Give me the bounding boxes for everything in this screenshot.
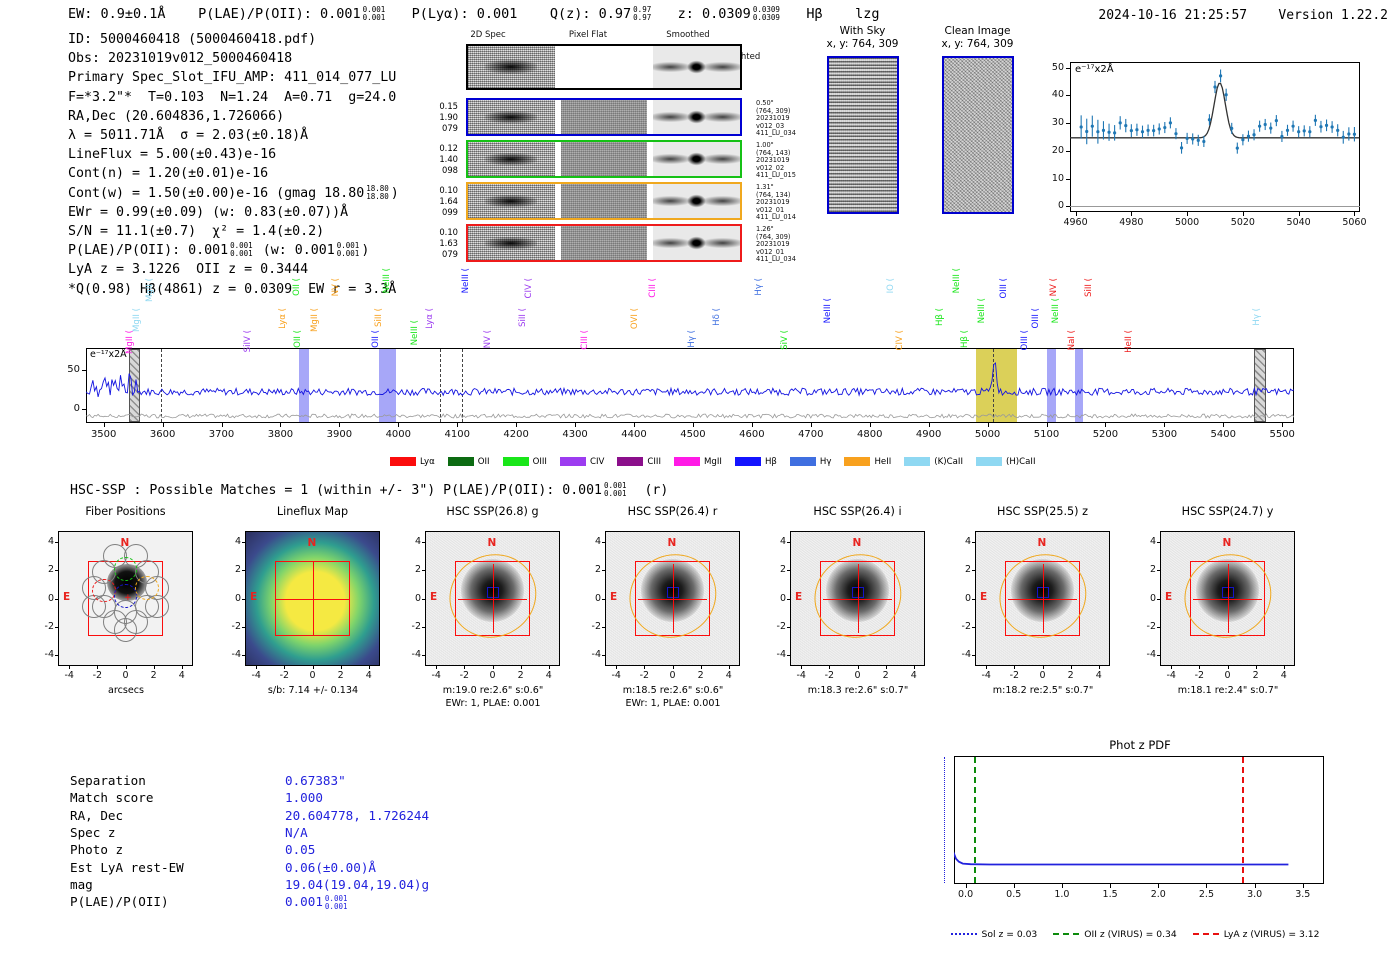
- spectrum-line-label-16: SiII (: [518, 308, 528, 327]
- axis-tick-y: 0: [1032, 200, 1064, 211]
- cutout-name-0: With Sky: [815, 25, 910, 38]
- emission-line-zoom-plot: 49604980500050205040506001020304050e⁻¹⁷x…: [1030, 58, 1375, 243]
- panel-xtick-3-1: -2: [630, 670, 658, 681]
- spec2d-col-header-0: 2D Spec: [448, 30, 528, 40]
- panel-axes-3: [605, 531, 740, 666]
- spectrum-line-label-37: NeIII (: [1051, 298, 1061, 323]
- spectrum-line-label-14: NeIII (: [461, 268, 471, 293]
- axis-tick-y: 30: [1032, 117, 1064, 128]
- axis-tick-x: 5020: [1225, 217, 1261, 228]
- axis-tick-x: 3.5: [1285, 889, 1321, 900]
- spectrum-trace: [86, 348, 1294, 423]
- panel-ytick-5-1: -2: [949, 621, 971, 632]
- match-value-4: 0.05: [285, 841, 315, 858]
- legend-item-4: CIII: [617, 457, 661, 467]
- spectrum-xtick: 3500: [82, 429, 126, 440]
- spectrum-xtick: 5400: [1201, 429, 1245, 440]
- match-key-5: Est LyA rest-EW: [70, 859, 184, 876]
- panel-sub2-3: EWr: 1, PLAE: 0.001: [586, 698, 761, 710]
- spec2d-cell-pixelflat: [561, 100, 648, 134]
- legend-swatch-0: [390, 457, 416, 466]
- match-key-0: Separation: [70, 772, 146, 789]
- legend-label-6: Hβ: [765, 457, 777, 467]
- photz-legend-label-2: LyA z (VIRUS) = 3.12: [1224, 929, 1320, 940]
- photz-curve: [954, 756, 1324, 884]
- panel-ytick-0-1: -2: [32, 621, 54, 632]
- panel-xtick-6-0: -4: [1157, 670, 1185, 681]
- panel-ytick-1-4: 4: [219, 536, 241, 547]
- match-key-3: Spec z: [70, 824, 116, 841]
- panel-ytick-3-0: -4: [579, 649, 601, 660]
- panel-crosshair-v-4: [858, 564, 859, 633]
- spec2d-strip: [466, 182, 742, 220]
- spectrum-line-label-18: CIII (: [580, 330, 590, 350]
- panel-sub1-1: s/b: 7.14 +/- 0.134: [226, 685, 401, 697]
- panel-title-5: HSC SSP(25.5) z: [963, 505, 1123, 518]
- legend-swatch-9: [904, 457, 930, 466]
- spectrum-line-label-24: SiV (: [780, 330, 790, 350]
- spectrum-line-label-13: Lyα (: [425, 308, 435, 329]
- gmag-frac: 18.8018.80: [366, 185, 389, 201]
- info-line-4: RA,Dec (20.604836,1.726066): [68, 107, 399, 126]
- legend-label-7: Hγ: [820, 457, 832, 467]
- panel-xtick-1-4: 4: [355, 670, 383, 681]
- match-key-6: mag: [70, 876, 93, 893]
- hsc-header-text: HSC-SSP : Possible Matches = 1 (within +…: [70, 483, 602, 498]
- spec2d-core-blob: [485, 111, 537, 123]
- photz-legend-label-1: OII z (VIRUS) = 0.34: [1084, 929, 1176, 940]
- spec2d-cell-pixelflat: [561, 184, 648, 218]
- cutout-title-0: With Skyx, y: 764, 309: [815, 25, 910, 50]
- photz-marker-1: [974, 757, 976, 883]
- hsc-header-frac: 0.0010.001: [604, 482, 627, 498]
- panel-xtick-2-2: 0: [479, 670, 507, 681]
- image-panel-row: Fiber Positions+NE-4-4-2-2002244arcsecsL…: [0, 505, 1400, 735]
- axis-tick-x: 1.5: [1092, 889, 1128, 900]
- panel-ytick-2-1: -2: [399, 621, 421, 632]
- panel-ytick-3-3: 2: [579, 564, 601, 575]
- spectrum-line-label-1: MgII (: [132, 308, 142, 332]
- header-z-frac: 0.03090.0309: [753, 6, 780, 22]
- spectrum-line-label-38: SiII (: [1084, 278, 1094, 297]
- panel-xtick-0-2: 0: [112, 670, 140, 681]
- panel-sub1-6: m:18.1 re:2.4" s:0.7": [1141, 685, 1316, 697]
- panel-compass-n-3: N: [668, 537, 677, 549]
- spectrum-line-label-25: NeIII (: [823, 298, 833, 323]
- cutout-pixels-0: [829, 58, 897, 212]
- spectrum-xtick: 4600: [730, 429, 774, 440]
- cutout-title-1: Clean Imagex, y: 764, 309: [930, 25, 1025, 50]
- cutout-panels: With Skyx, y: 764, 309Clean Imagex, y: 7…: [815, 25, 1025, 265]
- spectrum-line-label-19: OVI (: [630, 308, 640, 329]
- legend-swatch-4: [617, 457, 643, 466]
- photz-title: Phot z PDF: [930, 738, 1350, 752]
- header-z: z: 0.0309: [678, 6, 751, 22]
- panel-ytick-6-2: 0: [1134, 593, 1156, 604]
- panel-xtick-4-0: -4: [787, 670, 815, 681]
- legend-label-8: HeII: [874, 457, 891, 467]
- panel-xtick-6-3: 2: [1242, 670, 1270, 681]
- info-line-10: S/N = 11.1(±0.7) χ² = 1.4(±0.2): [68, 222, 399, 241]
- panel-compass-e-1: E: [250, 591, 257, 603]
- legend-item-1: OII: [448, 457, 490, 467]
- match-value-1: 1.000: [285, 789, 323, 806]
- spectrum-xtick: 3900: [317, 429, 361, 440]
- header-plae-frac: 0.0010.001: [363, 6, 386, 22]
- panel-compass-n-1: N: [308, 537, 317, 549]
- panel-xtick-4-1: -2: [815, 670, 843, 681]
- legend-item-7: Hγ: [790, 457, 832, 467]
- spectrum-2d-montage: 2D SpecPixel FlatSmoothedWeighted Sum0.1…: [420, 30, 760, 260]
- spectrum-line-label-21: Hγ (: [687, 330, 697, 348]
- match-value-2: 20.604778, 1.726244: [285, 807, 429, 824]
- panel-ytick-5-2: 0: [949, 593, 971, 604]
- photz-legend-swatch-1: [1053, 933, 1079, 935]
- panel-sub1-2: m:19.0 re:2.6" s:0.6": [406, 685, 581, 697]
- spec2d-strip: [466, 224, 742, 262]
- spectrum-line-label-27: CIV (: [895, 330, 905, 351]
- axis-tick-x: 0.5: [996, 889, 1032, 900]
- spectrum-xtick: 4700: [789, 429, 833, 440]
- axis-tick-x: 0.0: [948, 889, 984, 900]
- panel-title-6: HSC SSP(24.7) y: [1148, 505, 1308, 518]
- spectrum-line-label-23: Hγ (: [754, 278, 764, 296]
- panel-xtick-2-1: -2: [450, 670, 478, 681]
- panel-xtick-6-1: -2: [1185, 670, 1213, 681]
- spectrum-line-label-12: NeIII (: [410, 320, 420, 345]
- panel-compass-n-5: N: [1038, 537, 1047, 549]
- panel-crosshair-v-2: [493, 564, 494, 633]
- legend-label-10: (H)CaII: [1006, 457, 1036, 467]
- plae-frac-1: 0.0010.001: [230, 242, 253, 258]
- panel-sub2-2: EWr: 1, PLAE: 0.001: [406, 698, 581, 710]
- spec2d-cell-smoothed: [653, 184, 740, 218]
- panel-axes-1: [245, 531, 380, 666]
- panel-sub1-4: m:18.3 re:2.6" s:0.7": [771, 685, 946, 697]
- spec2d-core-blob: [485, 237, 537, 249]
- axis-tick-x: 2.5: [1188, 889, 1224, 900]
- legend-label-9: (K)CaII: [934, 457, 963, 467]
- spectrum-line-label-15: NV (: [483, 330, 493, 348]
- panel-ytick-1-3: 2: [219, 564, 241, 575]
- legend-item-9: (K)CaII: [904, 457, 963, 467]
- panel-ytick-5-3: 2: [949, 564, 971, 575]
- cutout-coords-1: x, y: 764, 309: [930, 38, 1025, 51]
- spectrum-line-label-11: NeIII (: [382, 268, 392, 293]
- header-summary-line: EW: 0.9±0.1Å P(LAE)/P(OII): 0.0010.0010.…: [68, 6, 880, 22]
- spectrum-line-label-30: Hβ (: [960, 330, 970, 348]
- panel-xtick-4-2: 0: [844, 670, 872, 681]
- info-line-2: Primary Spec_Slot_IFU_AMP: 411_014_077_L…: [68, 68, 399, 87]
- panel-compass-n-6: N: [1223, 537, 1232, 549]
- spectrum-line-label-2: MgII (: [145, 278, 155, 302]
- panel-ytick-1-0: -4: [219, 649, 241, 660]
- panel-sub1-3: m:18.5 re:2.6" s:0.6": [586, 685, 761, 697]
- panel-xtick-0-1: -2: [83, 670, 111, 681]
- panel-compass-e-4: E: [795, 591, 802, 603]
- spectrum-xtick: 5500: [1260, 429, 1304, 440]
- header-qz-frac: 0.970.97: [633, 6, 651, 22]
- legend-item-6: Hβ: [735, 457, 777, 467]
- legend-label-1: OII: [478, 457, 490, 467]
- spec2d-strip: [466, 98, 742, 136]
- panel-title-3: HSC SSP(26.4) r: [593, 505, 753, 518]
- spec2d-cell-2dspec: [468, 100, 555, 134]
- panel-ytick-6-1: -2: [1134, 621, 1156, 632]
- panel-axes-5: [975, 531, 1110, 666]
- panel-title-4: HSC SSP(26.4) i: [778, 505, 938, 518]
- spectrum-xtick: 5100: [1025, 429, 1069, 440]
- spectrum-xtick: 4900: [907, 429, 951, 440]
- legend-swatch-8: [844, 457, 870, 466]
- legend-swatch-7: [790, 457, 816, 466]
- axis-tick-x: 2.0: [1140, 889, 1176, 900]
- axis-tick-x: 3.0: [1237, 889, 1273, 900]
- spectrum-line-label-10: SiII (: [374, 308, 384, 327]
- panel-ytick-4-0: -4: [764, 649, 786, 660]
- spectrum-xtick: 5200: [1083, 429, 1127, 440]
- axis-tick-x: 5040: [1281, 217, 1317, 228]
- spec2d-row-left-label-0: 0.15 1.90 079: [412, 101, 458, 134]
- match-value-5: 0.06(±0.00)Å: [285, 859, 376, 876]
- header-plae-value: 0.001: [320, 6, 361, 22]
- legend-swatch-3: [560, 457, 586, 466]
- panel-compass-n-0: N: [121, 537, 130, 549]
- spectrum-xtick: 4200: [494, 429, 538, 440]
- panel-axes-4: [790, 531, 925, 666]
- spectrum-line-label-28: Hβ (: [935, 308, 945, 326]
- panel-xtick-5-1: -2: [1000, 670, 1028, 681]
- spec2d-col-header-1: Pixel Flat: [548, 30, 628, 40]
- panel-xtick-3-0: -4: [602, 670, 630, 681]
- match-properties-table: Separation0.67383"Match score1.000RA, De…: [70, 772, 500, 922]
- legend-swatch-10: [976, 457, 1002, 466]
- panel-xtick-4-3: 2: [872, 670, 900, 681]
- panel-xtick-2-4: 4: [535, 670, 563, 681]
- plae-frac-2: 0.0010.001: [337, 242, 360, 258]
- spectrum-line-label-7: MgII (: [310, 308, 320, 332]
- spec2d-core-blob: [485, 195, 537, 207]
- spec2d-row-side-label-2: 1.31" (764, 134) 20231019 v012_01 411_LU…: [756, 184, 796, 222]
- spec2d-core-blob: [485, 60, 537, 74]
- panel-crosshair-v-6: [1228, 564, 1229, 633]
- panel-xtick-5-3: 2: [1057, 670, 1085, 681]
- panel-ytick-4-2: 0: [764, 593, 786, 604]
- timestamp: 2024-10-16 21:25:57: [1098, 8, 1247, 23]
- legend-item-5: MgII: [674, 457, 722, 467]
- panel-compass-e-0: E: [63, 591, 70, 603]
- panel-axes-6: [1160, 531, 1295, 666]
- panel-ytick-4-1: -2: [764, 621, 786, 632]
- panel-xtick-1-1: -2: [270, 670, 298, 681]
- cutout-image-1: [942, 56, 1014, 214]
- spectrum-xtick: 5000: [966, 429, 1010, 440]
- legend-swatch-1: [448, 457, 474, 466]
- spec2d-row-side-label-1: 1.00" (764, 143) 20231019 v012_02 411_LU…: [756, 142, 796, 180]
- spec2d-cell-2dspec: [468, 46, 555, 88]
- axis-tick-y: 20: [1032, 145, 1064, 156]
- match-value-6: 19.04(19.04,19.04)g: [285, 876, 429, 893]
- panel-ytick-0-4: 4: [32, 536, 54, 547]
- spectrum-xtick: 4500: [671, 429, 715, 440]
- legend-label-2: OIII: [533, 457, 547, 467]
- panel-ytick-3-1: -2: [579, 621, 601, 632]
- spectrum-line-label-29: NeIII (: [952, 268, 962, 293]
- panel-ytick-6-4: 4: [1134, 536, 1156, 547]
- match-value-3: N/A: [285, 824, 308, 841]
- panel-xtick-2-0: -4: [422, 670, 450, 681]
- info-line-6: LineFlux = 5.00(±0.43)e-16: [68, 145, 399, 164]
- panel-title-2: HSC SSP(26.8) g: [413, 505, 573, 518]
- panel-xtick-2-3: 2: [507, 670, 535, 681]
- spec2d-cell-pixelflat: [561, 142, 648, 176]
- panel-xtick-5-2: 0: [1029, 670, 1057, 681]
- panel-sub1-5: m:18.2 re:2.5" s:0.7": [956, 685, 1131, 697]
- legend-label-5: MgII: [704, 457, 722, 467]
- hsc-match-header: HSC-SSP : Possible Matches = 1 (within +…: [70, 482, 668, 498]
- panel-ytick-0-2: 0: [32, 593, 54, 604]
- photz-legend-item-0: Sol z = 0.03: [951, 929, 1038, 940]
- panel-ytick-4-3: 2: [764, 564, 786, 575]
- panel-ytick-2-0: -4: [399, 649, 421, 660]
- spec2d-row-side-label-0: 0.50" (764, 309) 20231019 v012_03 411_LU…: [756, 100, 796, 138]
- panel-compass-e-5: E: [980, 591, 987, 603]
- panel-xtick-4-4: 4: [900, 670, 928, 681]
- panel-sub1-0: arcsecs: [39, 685, 214, 697]
- legend-swatch-2: [503, 457, 529, 466]
- photz-legend-label-0: Sol z = 0.03: [982, 929, 1038, 940]
- spectrum-line-label-6: OII (: [293, 330, 303, 348]
- cutout-image-0: [827, 56, 899, 214]
- cutout-name-1: Clean Image: [930, 25, 1025, 38]
- spec2d-cell-smoothed: [653, 226, 740, 260]
- hsc-header-suffix: (r): [644, 483, 668, 498]
- header-flag: lzg: [855, 6, 879, 22]
- legend-item-0: Lyα: [390, 457, 435, 467]
- legend-label-4: CIII: [647, 457, 661, 467]
- match-value-7: 0.0010.0010.001: [285, 893, 350, 910]
- spectrum-ytick: 50: [52, 364, 80, 375]
- photz-pdf-panel: Phot z PDF0.00.51.01.52.02.53.03.5Sol z …: [930, 738, 1350, 948]
- spectrum-line-label-31: NeIII (: [977, 298, 987, 323]
- panel-ytick-6-0: -4: [1134, 649, 1156, 660]
- panel-xtick-3-4: 4: [715, 670, 743, 681]
- axis-tick-y: 50: [1032, 62, 1064, 73]
- legend-item-8: HeII: [844, 457, 891, 467]
- panel-title-1: Lineflux Map: [233, 505, 393, 518]
- spec2d-core-blob: [485, 153, 537, 165]
- panel-ytick-2-3: 2: [399, 564, 421, 575]
- panel-xtick-6-2: 0: [1214, 670, 1242, 681]
- spec2d-cell-pixelflat: [561, 226, 648, 260]
- panel-ytick-2-2: 0: [399, 593, 421, 604]
- info-line-1: Obs: 20231019v012_5000460418: [68, 49, 399, 68]
- axis-tick-y: 10: [1032, 173, 1064, 184]
- match-key-2: RA, Dec: [70, 807, 123, 824]
- legend-item-10: (H)CaII: [976, 457, 1036, 467]
- spectrum-line-label-0: MgII (: [125, 330, 135, 354]
- panel-compass-n-2: N: [488, 537, 497, 549]
- axis-tick-x: 1.0: [1044, 889, 1080, 900]
- legend-swatch-6: [735, 457, 761, 466]
- panel-xtick-1-2: 0: [299, 670, 327, 681]
- panel-compass-e-6: E: [1165, 591, 1172, 603]
- panel-ytick-0-0: -4: [32, 649, 54, 660]
- info-line-9: EWr = 0.99(±0.09) (w: 0.83(±0.07))Å: [68, 203, 399, 222]
- spectrum-xtick: 3700: [200, 429, 244, 440]
- legend-item-2: OIII: [503, 457, 547, 467]
- panel-xtick-1-0: -4: [242, 670, 270, 681]
- panel-ytick-5-4: 4: [949, 536, 971, 547]
- spec2d-row-left-label-2: 0.10 1.64 099: [412, 185, 458, 218]
- spectrum-line-label-4: Lyα (: [278, 308, 288, 329]
- spectrum-line-label-17: CIV (: [524, 278, 534, 299]
- spec2d-cell-smoothed: [653, 46, 740, 88]
- spectrum-xtick: 3600: [141, 429, 185, 440]
- match-value-0: 0.67383": [285, 772, 346, 789]
- match-key-7: P(LAE)/P(OII): [70, 893, 169, 910]
- photz-marker-2: [1242, 757, 1244, 883]
- info-line-5: λ = 5011.71Å σ = 2.03(±0.18)Å: [68, 126, 399, 145]
- header-qz: Q(z): 0.97: [550, 6, 631, 22]
- spectrum-line-label-26: IO (: [886, 278, 896, 293]
- photz-legend-swatch-2: [1193, 933, 1219, 935]
- spec2d-strip: [466, 140, 742, 178]
- spectrum-line-label-22: Hδ (: [712, 308, 722, 326]
- header-ew: EW: 0.9±0.1Å: [68, 6, 166, 22]
- version-label: Version 1.22.2: [1278, 8, 1388, 23]
- spectrum-line-label-34: OIII (: [1031, 308, 1041, 328]
- cutout-coords-0: x, y: 764, 309: [815, 38, 910, 51]
- panel-compass-e-2: E: [430, 591, 437, 603]
- panel-ytick-1-2: 0: [219, 593, 241, 604]
- spectrum-legend: LyαOIIOIIICIVCIIIMgIIHβHγHeII(K)CaII(H)C…: [390, 451, 1030, 470]
- spectrum-line-label-3: SiIV (: [243, 330, 253, 352]
- info-line-3: F=*3.2"* T=0.103 N=1.24 A=0.71 g=24.0: [68, 88, 399, 107]
- legend-label-3: CIV: [590, 457, 604, 467]
- full-spectrum-panel: e⁻¹⁷x2Å050350036003700380039004000410042…: [0, 268, 1400, 473]
- spec2d-cell-pixelflat: [561, 46, 648, 88]
- spec2d-cell-2dspec: [468, 226, 555, 260]
- info-line-8: Cont(w) = 1.50(±0.00)e-16 (gmag 18.8018.…: [68, 184, 399, 203]
- panel-compass-n-4: N: [853, 537, 862, 549]
- panel-ytick-3-2: 0: [579, 593, 601, 604]
- info-line-7: Cont(n) = 1.20(±0.01)e-16: [68, 164, 399, 183]
- axis-tick-x: 4980: [1113, 217, 1149, 228]
- spectrum-line-label-35: NV (: [1049, 278, 1059, 296]
- spectrum-xtick: 5300: [1142, 429, 1186, 440]
- info-line-0: ID: 5000460418 (5000460418.pdf): [68, 30, 399, 49]
- axis-tick-x: 4960: [1058, 217, 1094, 228]
- panel-ytick-1-1: -2: [219, 621, 241, 632]
- panel-xtick-3-3: 2: [687, 670, 715, 681]
- spectrum-line-label-5: OII (: [292, 278, 302, 296]
- spectrum-xtick: 4800: [848, 429, 892, 440]
- panel-ytick-4-4: 4: [764, 536, 786, 547]
- spec2d-row-left-label-1: 0.12 1.40 098: [412, 143, 458, 176]
- panel-xtick-5-4: 4: [1085, 670, 1113, 681]
- match-key-4: Photo z: [70, 841, 123, 858]
- info-line-11: P(LAE)/P(OII): 0.0010.0010.001 (w: 0.001…: [68, 241, 399, 260]
- panel-xtick-6-4: 4: [1270, 670, 1298, 681]
- panel-ytick-0-3: 2: [32, 564, 54, 575]
- legend-swatch-5: [674, 457, 700, 466]
- header-plya: P(Lyα): 0.001: [412, 6, 518, 22]
- spectrum-xtick: 3800: [258, 429, 302, 440]
- panel-ytick-6-3: 2: [1134, 564, 1156, 575]
- photz-legend-item-2: LyA z (VIRUS) = 3.12: [1193, 929, 1320, 940]
- spectrum-xtick: 4000: [376, 429, 420, 440]
